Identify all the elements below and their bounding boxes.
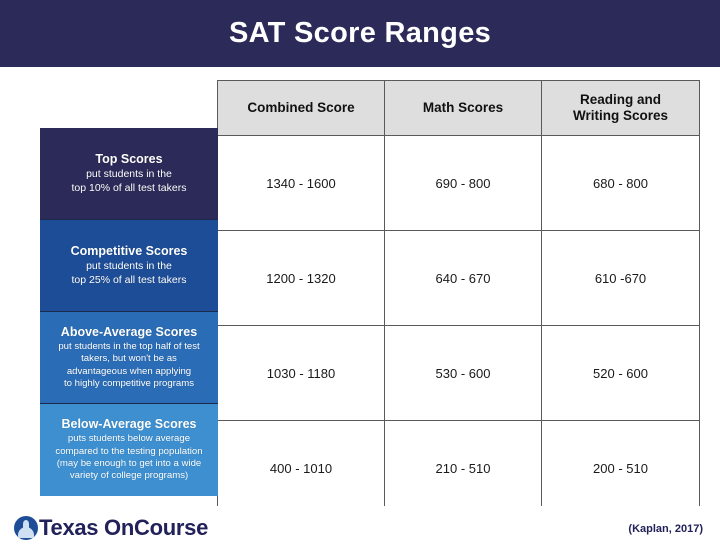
category-desc-below-average-scores: puts students below average compared to … [55, 433, 202, 482]
category-title-above-average-scores: Above-Average Scores [61, 325, 197, 340]
category-desc-line: takers, but won't be as [58, 353, 199, 365]
category-desc-line: puts students below average [55, 433, 202, 445]
table-row: 1030 - 1180 530 - 600 520 - 600 [218, 326, 700, 421]
column-header-reading-writing-scores: Reading and Writing Scores [542, 81, 700, 136]
category-cell-above-average-scores: Above-Average Scores put students in the… [40, 312, 218, 404]
cell-combined-above-average: 1030 - 1180 [218, 326, 385, 421]
category-title-top-scores: Top Scores [95, 152, 162, 167]
title-banner: SAT Score Ranges [0, 0, 720, 67]
cell-math-top: 690 - 800 [385, 136, 542, 231]
category-desc-line: top 10% of all test takers [72, 182, 187, 195]
cell-math-below-average: 210 - 510 [385, 421, 542, 516]
column-header-reading-line1: Reading and [580, 92, 661, 107]
cell-math-above-average: 530 - 600 [385, 326, 542, 421]
column-header-math-scores: Math Scores [385, 81, 542, 136]
category-desc-line: compared to the testing population [55, 446, 202, 458]
cell-combined-competitive: 1200 - 1320 [218, 231, 385, 326]
category-desc-line: put students in the top half of test [58, 341, 199, 353]
source-attribution: (Kaplan, 2017) [628, 523, 703, 535]
category-desc-line: put students in the [72, 260, 187, 273]
category-desc-above-average-scores: put students in the top half of test tak… [58, 341, 199, 390]
category-desc-line: advantageous when applying [58, 366, 199, 378]
category-desc-top-scores: put students in the top 10% of all test … [72, 168, 187, 194]
cell-reading-top: 680 - 800 [542, 136, 700, 231]
category-desc-line: to highly competitive programs [58, 378, 199, 390]
column-header-reading-line2: Writing Scores [573, 108, 668, 123]
texas-oncourse-globe-icon [14, 516, 38, 540]
cell-reading-below-average: 200 - 510 [542, 421, 700, 516]
texas-oncourse-logo: Texas OnCourse [14, 515, 208, 541]
cell-combined-below-average: 400 - 1010 [218, 421, 385, 516]
table-row: 400 - 1010 210 - 510 200 - 510 [218, 421, 700, 516]
slide-content: Combined Score Math Scores Reading and W… [0, 71, 720, 556]
cell-math-competitive: 640 - 670 [385, 231, 542, 326]
category-desc-line: (may be enough to get into a wide [55, 458, 202, 470]
category-cell-below-average-scores: Below-Average Scores puts students below… [40, 404, 218, 496]
score-ranges-table: Combined Score Math Scores Reading and W… [217, 80, 700, 516]
category-desc-line: top 25% of all test takers [72, 274, 187, 287]
page-title: SAT Score Ranges [229, 17, 491, 50]
logo-wordmark: Texas OnCourse [39, 515, 208, 541]
cell-reading-competitive: 610 -670 [542, 231, 700, 326]
table-row: 1340 - 1600 690 - 800 680 - 800 [218, 136, 700, 231]
category-title-below-average-scores: Below-Average Scores [61, 417, 196, 432]
cell-reading-above-average: 520 - 600 [542, 326, 700, 421]
category-desc-competitive-scores: put students in the top 25% of all test … [72, 260, 187, 286]
category-desc-line: variety of college programs) [55, 470, 202, 482]
category-desc-line: put students in the [72, 168, 187, 181]
table-row: 1200 - 1320 640 - 670 610 -670 [218, 231, 700, 326]
category-cell-top-scores: Top Scores put students in the top 10% o… [40, 128, 218, 220]
slide-footer: Texas OnCourse (Kaplan, 2017) [0, 506, 720, 556]
category-cell-competitive-scores: Competitive Scores put students in the t… [40, 220, 218, 312]
cell-combined-top: 1340 - 1600 [218, 136, 385, 231]
column-header-combined-score: Combined Score [218, 81, 385, 136]
table-header-row: Combined Score Math Scores Reading and W… [218, 81, 700, 136]
category-title-competitive-scores: Competitive Scores [71, 244, 188, 259]
category-column: Top Scores put students in the top 10% o… [40, 128, 218, 496]
